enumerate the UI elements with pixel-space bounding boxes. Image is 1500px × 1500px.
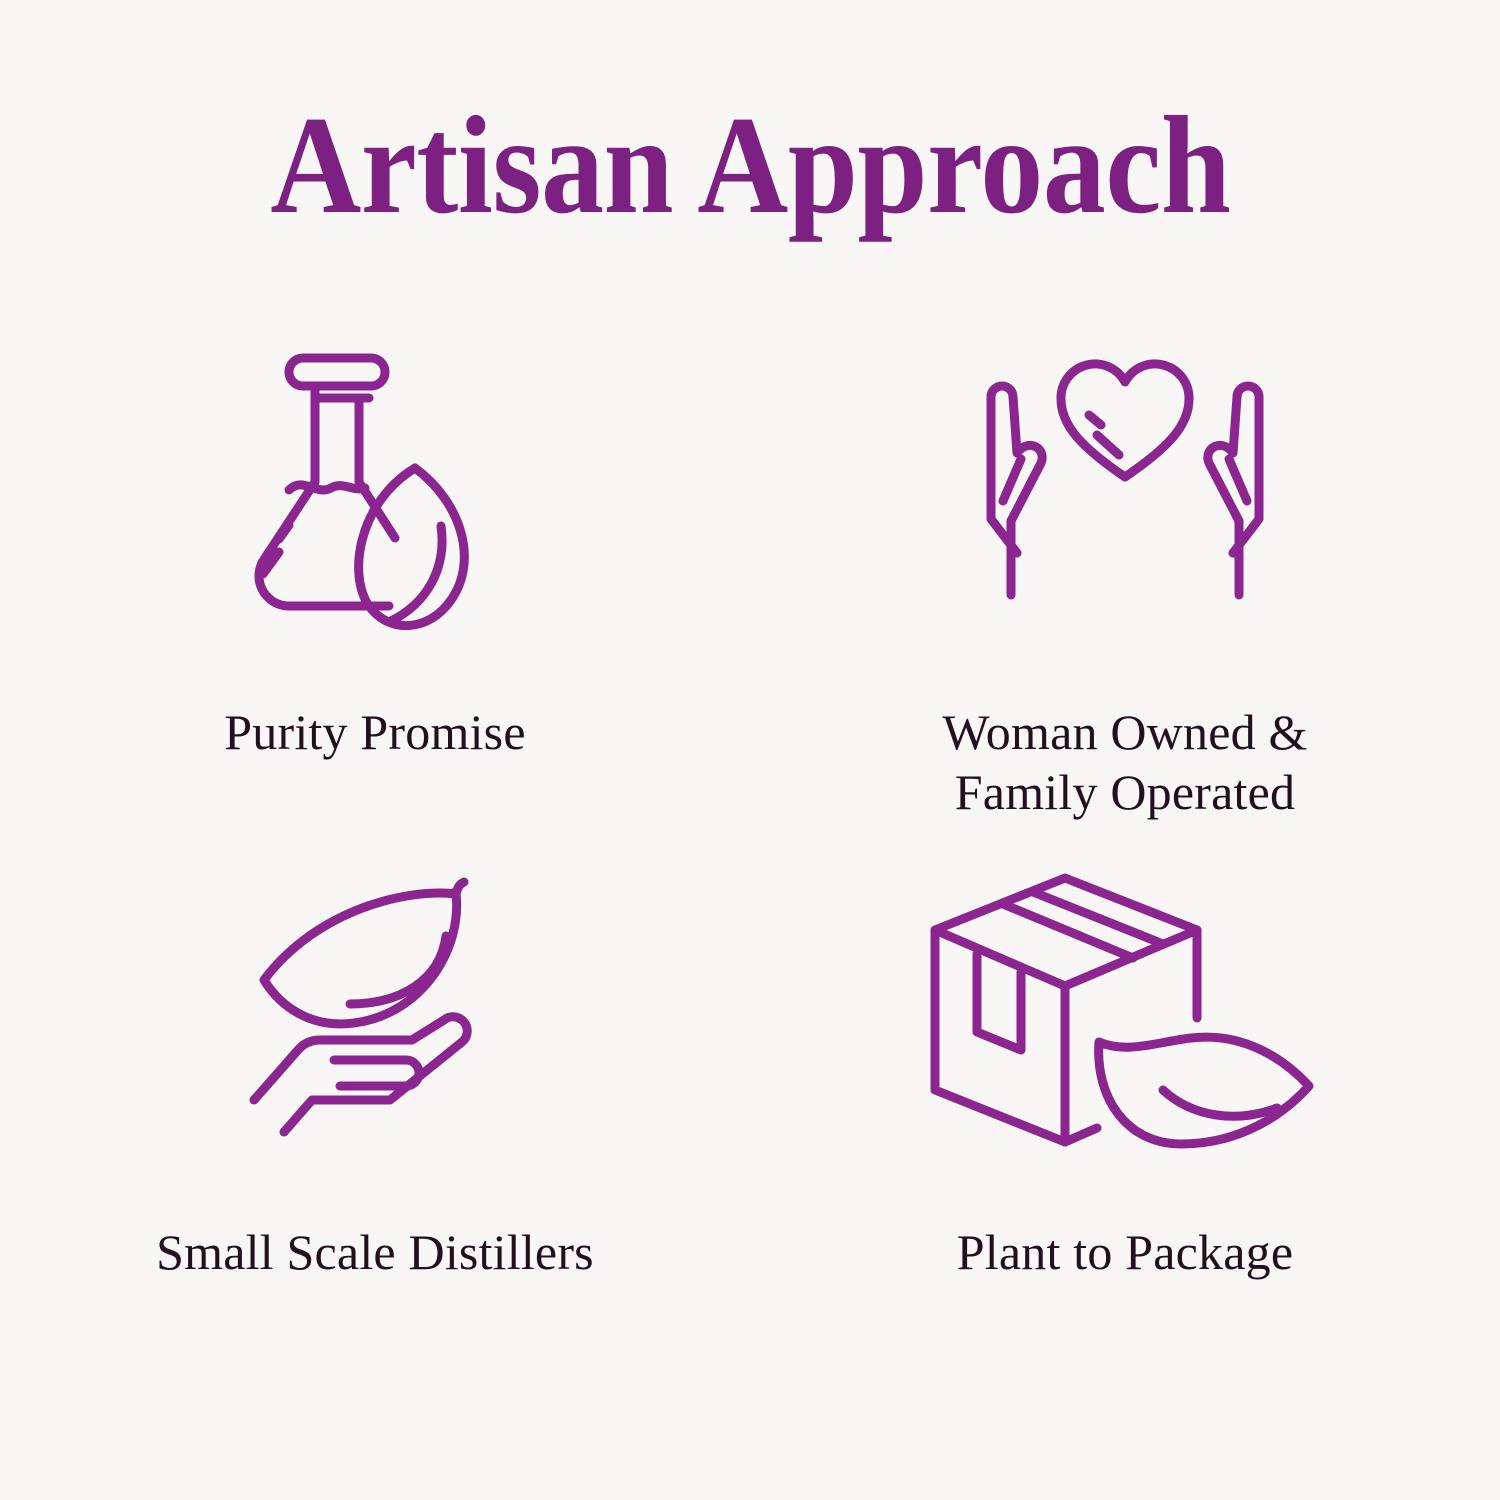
hands-holding-heart-icon [750, 340, 1500, 640]
feature-purity-promise: Purity Promise [0, 340, 750, 870]
hand-holding-leaf-icon [0, 870, 750, 1150]
feature-label: Small Scale Distillers [156, 1222, 594, 1282]
box-leaf-icon [750, 870, 1500, 1150]
feature-small-scale-distillers: Small Scale Distillers [0, 870, 750, 1400]
feature-woman-owned: Woman Owned & Family Operated [750, 340, 1500, 870]
feature-grid: Purity Promise [0, 340, 1500, 1400]
page-title-container: Artisan Approach [0, 96, 1500, 236]
feature-plant-to-package: Plant to Package [750, 870, 1500, 1400]
feature-label: Plant to Package [957, 1222, 1293, 1282]
feature-label: Purity Promise [224, 702, 525, 762]
artisan-approach-panel: Artisan Approach [0, 0, 1500, 1500]
flask-leaf-icon [0, 340, 750, 640]
feature-label: Woman Owned & Family Operated [942, 702, 1307, 822]
page-title: Artisan Approach [270, 96, 1230, 236]
